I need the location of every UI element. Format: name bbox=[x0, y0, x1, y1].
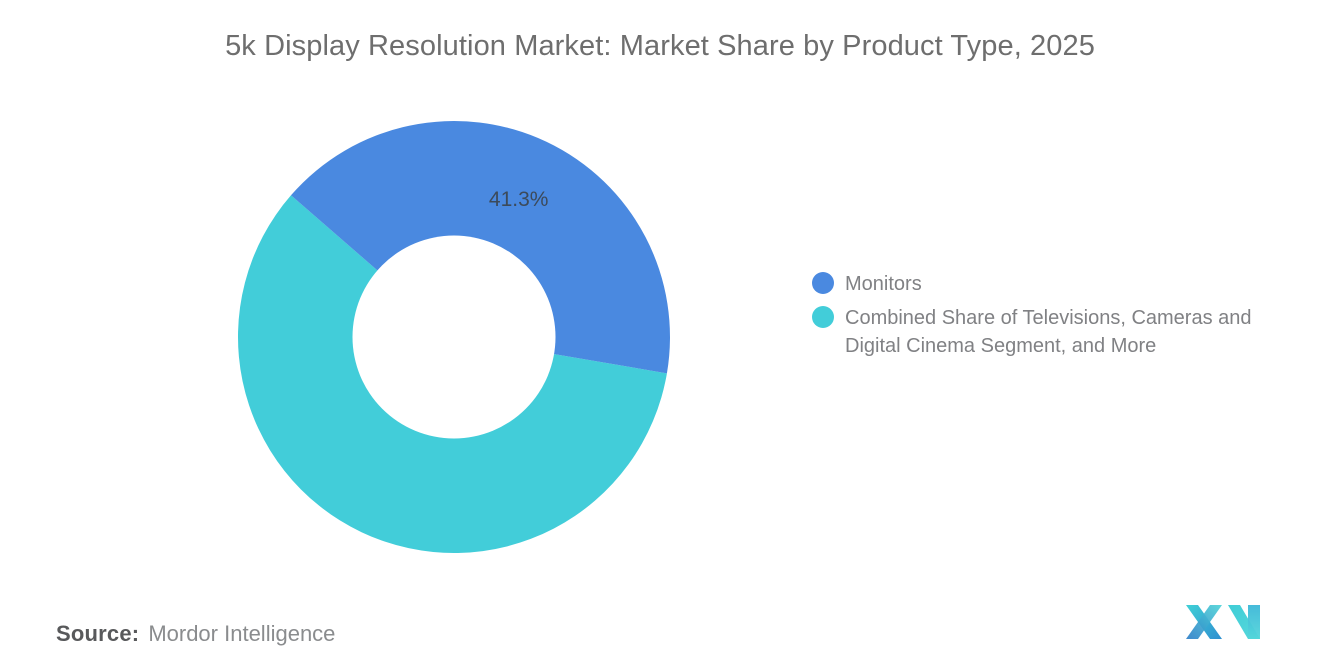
legend: Monitors Combined Share of Televisions, … bbox=[812, 270, 1282, 366]
donut-hole bbox=[353, 236, 556, 439]
legend-label-combined: Combined Share of Televisions, Cameras a… bbox=[845, 304, 1265, 360]
source-footer: Source: Mordor Intelligence bbox=[56, 621, 335, 647]
donut-svg: 41.3% bbox=[238, 120, 670, 554]
legend-label-monitors: Monitors bbox=[845, 270, 922, 298]
mordor-intelligence-logo-icon bbox=[1184, 601, 1262, 643]
legend-item-monitors[interactable]: Monitors bbox=[812, 270, 1282, 298]
page-title: 5k Display Resolution Market: Market Sha… bbox=[0, 30, 1320, 63]
chart-page: 5k Display Resolution Market: Market Sha… bbox=[0, 0, 1320, 665]
donut-label-monitors: 41.3% bbox=[489, 188, 549, 211]
legend-item-combined[interactable]: Combined Share of Televisions, Cameras a… bbox=[812, 304, 1282, 360]
source-label: Source: bbox=[56, 621, 139, 647]
legend-swatch-icon-combined bbox=[812, 306, 834, 328]
source-value: Mordor Intelligence bbox=[148, 621, 335, 647]
legend-swatch-icon-monitors bbox=[812, 272, 834, 294]
donut-chart: 41.3% bbox=[238, 120, 670, 554]
